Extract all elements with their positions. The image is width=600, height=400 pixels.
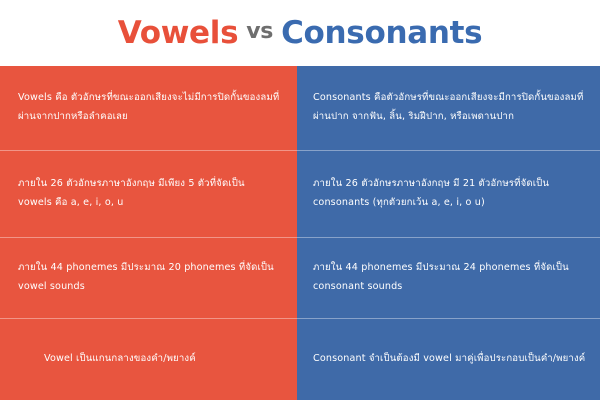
- page-title: Vowels vs Consonants: [0, 0, 600, 66]
- cell-consonants-definition: Consonants คือตัวอักษรที่ขณะออกเสียงจะมี…: [313, 89, 586, 126]
- infographic-root: Vowels vs Consonants Vowels คือ ตัวอักษร…: [0, 0, 600, 400]
- table-row: ภายใน 26 ตัวอักษรภาษาอังกฤษ มี 21 ตัวอัก…: [297, 150, 600, 237]
- title-separator-vs: vs: [238, 21, 281, 43]
- table-row: ภายใน 44 phonemes มีประมาณ 24 phonemes ท…: [297, 237, 600, 318]
- cell-consonants-phoneme-count: ภายใน 44 phonemes มีประมาณ 24 phonemes ท…: [313, 259, 586, 296]
- cell-vowels-role-in-syllable: Vowel เป็นแกนกลางของคำ/พยางค์: [18, 350, 281, 369]
- table-row: ภายใน 26 ตัวอักษรภาษาอังกฤษ มีเพียง 5 ตั…: [0, 150, 297, 237]
- cell-consonants-letter-count: ภายใน 26 ตัวอักษรภาษาอังกฤษ มี 21 ตัวอัก…: [313, 175, 586, 212]
- table-row: Vowel เป็นแกนกลางของคำ/พยางค์: [0, 318, 297, 400]
- column-consonants: Consonants คือตัวอักษรที่ขณะออกเสียงจะมี…: [297, 66, 600, 400]
- comparison-table: Vowels คือ ตัวอักษรที่ขณะออกเสียงจะไม่มี…: [0, 66, 600, 400]
- cell-consonants-role-in-syllable: Consonant จำเป็นต้องมี vowel มาคู่เพื่อป…: [313, 350, 586, 369]
- table-row: Consonant จำเป็นต้องมี vowel มาคู่เพื่อป…: [297, 318, 600, 400]
- title-word-consonants: Consonants: [281, 18, 482, 49]
- table-row: ภายใน 44 phonemes มีประมาณ 20 phonemes ท…: [0, 237, 297, 318]
- title-word-vowels: Vowels: [118, 18, 239, 49]
- cell-vowels-definition: Vowels คือ ตัวอักษรที่ขณะออกเสียงจะไม่มี…: [18, 89, 281, 126]
- cell-vowels-phoneme-count: ภายใน 44 phonemes มีประมาณ 20 phonemes ท…: [18, 259, 281, 296]
- cell-vowels-letter-count: ภายใน 26 ตัวอักษรภาษาอังกฤษ มีเพียง 5 ตั…: [18, 175, 281, 212]
- table-row: Consonants คือตัวอักษรที่ขณะออกเสียงจะมี…: [297, 66, 600, 150]
- column-vowels: Vowels คือ ตัวอักษรที่ขณะออกเสียงจะไม่มี…: [0, 66, 297, 400]
- table-row: Vowels คือ ตัวอักษรที่ขณะออกเสียงจะไม่มี…: [0, 66, 297, 150]
